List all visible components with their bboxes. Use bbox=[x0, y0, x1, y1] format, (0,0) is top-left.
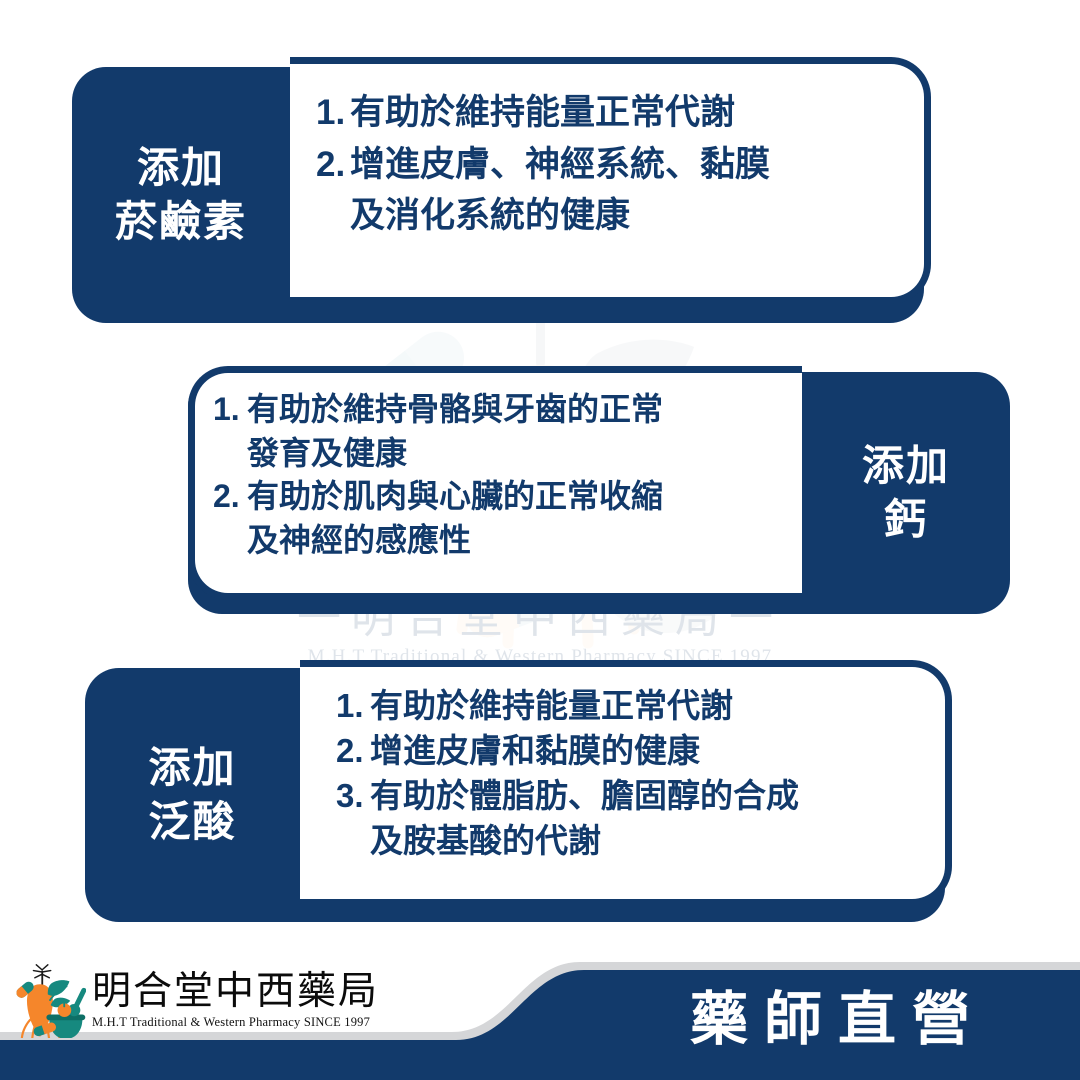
card-label-niacin: 添加 菸鹼素 bbox=[72, 67, 290, 323]
benefit-list: 1. 有助於維持能量正常代謝 2. 增進皮膚和黏膜的健康 3. 有助於體脂肪、膽… bbox=[300, 667, 945, 863]
card-benefit-panel: 1. 有助於維持能量正常代謝 2. 增進皮膚、神經系統、黏膜 及消化系統的健康 bbox=[290, 57, 931, 304]
benefit-item: 1. 有助於維持能量正常代謝 bbox=[336, 685, 935, 728]
footer-brand-en: M.H.T Traditional & Western Pharmacy SIN… bbox=[92, 1015, 379, 1030]
benefit-number: 1. bbox=[316, 90, 350, 136]
nutrient-card-niacin: 添加 菸鹼素 1. 有助於維持能量正常代謝 2. 增進皮膚、神經系統、黏膜 及消… bbox=[72, 67, 924, 323]
benefit-text: 及消化系統的健康 bbox=[350, 193, 906, 239]
benefit-item: 2. 增進皮膚和黏膜的健康 bbox=[336, 730, 935, 773]
benefit-text: 增進皮膚和黏膜的健康 bbox=[370, 730, 935, 773]
benefit-item: 1. 有助於維持能量正常代謝 bbox=[316, 90, 906, 136]
card-label-pantothenic-acid: 添加 泛酸 bbox=[85, 668, 300, 922]
benefit-number: 3. bbox=[336, 775, 370, 818]
ribbon-label-pharmacist-operated: 藥師直營 bbox=[690, 972, 986, 1056]
benefit-text: 有助於肌肉與心臟的正常收縮 bbox=[247, 476, 794, 518]
footer-brand-cn: 明合堂中西藥局 bbox=[92, 972, 379, 1012]
benefit-text: 增進皮膚、神經系統、黏膜 bbox=[350, 142, 906, 188]
card-benefit-panel: 1. 有助於維持能量正常代謝 2. 增進皮膚和黏膜的健康 3. 有助於體脂肪、膽… bbox=[300, 660, 952, 906]
benefit-item: 發育及健康 bbox=[213, 433, 794, 475]
card-label-line-1: 添加 bbox=[148, 741, 236, 795]
benefit-number: 1. bbox=[213, 389, 247, 431]
benefit-text: 有助於維持骨骼與牙齒的正常 bbox=[247, 389, 794, 431]
benefit-list: 1. 有助於維持骨骼與牙齒的正常 發育及健康 2. 有助於肌肉與心臟的正常收縮 … bbox=[195, 373, 802, 561]
benefit-item: 及胺基酸的代謝 bbox=[336, 820, 935, 863]
benefit-item: 1. 有助於維持骨骼與牙齒的正常 bbox=[213, 389, 794, 431]
benefit-text: 有助於體脂肪、膽固醇的合成 bbox=[370, 775, 935, 818]
benefit-item: 及神經的感應性 bbox=[213, 520, 794, 562]
benefit-number: 2. bbox=[336, 730, 370, 773]
benefit-number: 2. bbox=[316, 142, 350, 188]
benefit-text: 發育及健康 bbox=[247, 433, 794, 475]
benefit-item: 及消化系統的健康 bbox=[316, 193, 906, 239]
card-label-line-1: 添加 bbox=[137, 141, 225, 195]
card-label-line-2: 菸鹼素 bbox=[115, 195, 247, 249]
card-label-calcium: 添加 鈣 bbox=[802, 372, 1010, 614]
card-label-line-1: 添加 bbox=[862, 439, 950, 493]
nutrient-card-calcium: 添加 鈣 1. 有助於維持骨骼與牙齒的正常 發育及健康 2. 有助於肌肉與心臟的… bbox=[188, 372, 1010, 614]
footer-brand-text: 明合堂中西藥局 M.H.T Traditional & Western Phar… bbox=[92, 972, 379, 1030]
benefit-text: 有助於維持能量正常代謝 bbox=[370, 685, 935, 728]
benefit-number: 1. bbox=[336, 685, 370, 728]
benefit-item: 2. 增進皮膚、神經系統、黏膜 bbox=[316, 142, 906, 188]
benefit-text: 有助於維持能量正常代謝 bbox=[350, 90, 906, 136]
benefit-text: 及神經的感應性 bbox=[247, 520, 794, 562]
benefit-item: 3. 有助於體脂肪、膽固醇的合成 bbox=[336, 775, 935, 818]
benefit-text: 及胺基酸的代謝 bbox=[370, 820, 935, 863]
benefit-item: 2. 有助於肌肉與心臟的正常收縮 bbox=[213, 476, 794, 518]
benefit-number: 2. bbox=[213, 476, 247, 518]
pharmacy-logo-icon bbox=[14, 964, 86, 1038]
nutrient-card-pantothenic-acid: 添加 泛酸 1. 有助於維持能量正常代謝 2. 增進皮膚和黏膜的健康 3. 有助… bbox=[85, 668, 945, 922]
card-label-line-2: 鈣 bbox=[884, 493, 928, 547]
card-label-line-2: 泛酸 bbox=[148, 795, 236, 849]
footer-brand: 明合堂中西藥局 M.H.T Traditional & Western Phar… bbox=[14, 964, 379, 1038]
poster-canvas: 一明合堂中西藥局一 M.H.T Traditional & Western Ph… bbox=[0, 0, 1080, 1080]
benefit-list: 1. 有助於維持能量正常代謝 2. 增進皮膚、神經系統、黏膜 及消化系統的健康 bbox=[290, 64, 924, 239]
card-benefit-panel: 1. 有助於維持骨骼與牙齒的正常 發育及健康 2. 有助於肌肉與心臟的正常收縮 … bbox=[188, 366, 802, 600]
